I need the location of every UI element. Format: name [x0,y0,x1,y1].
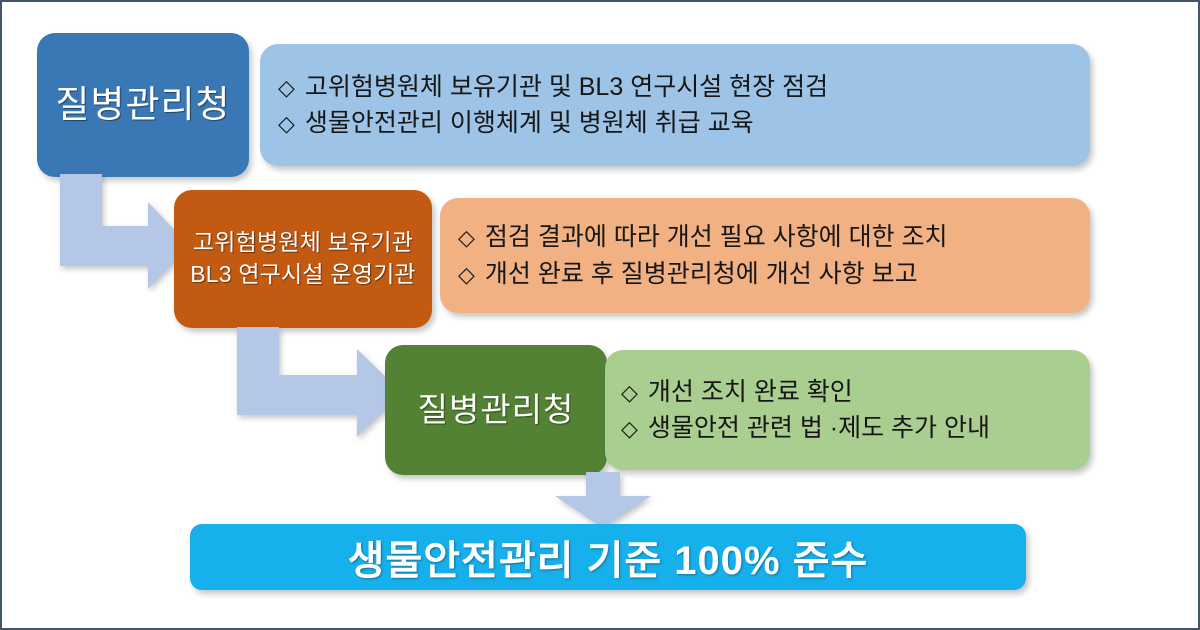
diagram-canvas: 질병관리청 ◇ 고위험병원체 보유기관 및 BL3 연구시설 현장 점검 ◇ 생… [0,0,1200,630]
diamond-bullet-icon: ◇ [458,259,475,291]
diamond-bullet-icon: ◇ [621,377,638,409]
down-arrow-to-result [555,472,651,528]
kdca-top-label: 질병관리청 [55,79,230,130]
bullet-text: 생물안전관리 이행체계 및 병원체 취급 교육 [305,105,754,141]
bullet-row: ◇ 점검 결과에 따라 개선 필요 사항에 대한 조치 [458,219,948,255]
bullet-text: 점검 결과에 따라 개선 필요 사항에 대한 조치 [485,219,948,255]
bullet-row: ◇ 고위험병원체 보유기관 및 BL3 연구시설 현장 점검 [278,69,828,105]
node-kdca-top[interactable]: 질병관리청 [37,33,249,177]
node-institution-tasks[interactable]: ◇ 점검 결과에 따라 개선 필요 사항에 대한 조치 ◇ 개선 완료 후 질병… [440,198,1090,313]
diamond-bullet-icon: ◇ [278,72,295,104]
diamond-bullet-icon: ◇ [621,413,638,445]
institutions-label-line2: BL3 연구시설 운영기관 [190,259,416,291]
node-kdca-top-tasks[interactable]: ◇ 고위험병원체 보유기관 및 BL3 연구시설 현장 점검 ◇ 생물안전관리 … [260,44,1090,166]
bullet-text: 생물안전 관련 법 ·제도 추가 안내 [648,410,990,446]
elbow-arrow-kdca-to-institutions [60,174,190,289]
diamond-bullet-icon: ◇ [278,108,295,140]
diamond-bullet-icon: ◇ [458,222,475,254]
result-banner-label: 생물안전관리 기준 100% 준수 [348,528,869,586]
bullet-row: ◇ 생물안전관리 이행체계 및 병원체 취급 교육 [278,105,754,141]
node-kdca-bottom-tasks[interactable]: ◇ 개선 조치 완료 확인 ◇ 생물안전 관련 법 ·제도 추가 안내 [605,350,1090,470]
node-kdca-bottom[interactable]: 질병관리청 [385,345,607,475]
bullet-text: 고위험병원체 보유기관 및 BL3 연구시설 현장 점검 [305,69,828,105]
bullet-text: 개선 조치 완료 확인 [648,374,853,410]
kdca-bottom-label: 질병관리청 [418,387,575,433]
bullet-row: ◇ 개선 완료 후 질병관리청에 개선 사항 보고 [458,256,918,292]
bullet-row: ◇ 개선 조치 완료 확인 [621,374,853,410]
elbow-arrow-institutions-to-kdca-bottom [237,327,402,437]
node-institutions[interactable]: 고위험병원체 보유기관 BL3 연구시설 운영기관 [174,190,432,328]
institutions-label-line1: 고위험병원체 보유기관 [193,227,413,259]
result-banner[interactable]: 생물안전관리 기준 100% 준수 [190,524,1026,590]
bullet-row: ◇ 생물안전 관련 법 ·제도 추가 안내 [621,410,990,446]
bullet-text: 개선 완료 후 질병관리청에 개선 사항 보고 [485,256,918,292]
